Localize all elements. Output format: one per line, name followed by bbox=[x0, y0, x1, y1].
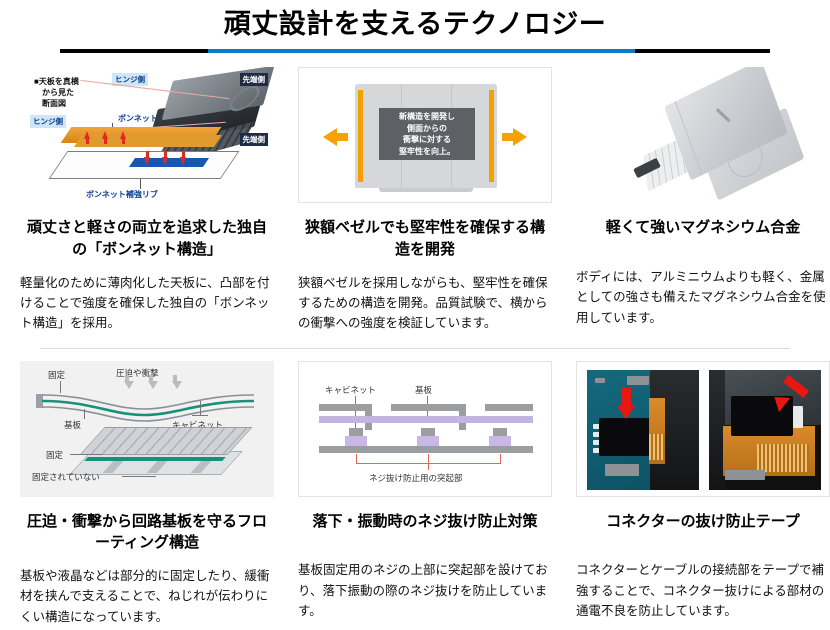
laptop-photo bbox=[576, 67, 830, 203]
connector-photo-left bbox=[587, 370, 699, 490]
label-bonnet-rib: ボンネット補強リブ bbox=[86, 189, 158, 200]
card-title: 狭額ベゼルでも堅牢性を確保する構造を開発 bbox=[298, 217, 552, 261]
impact-arrow-right bbox=[513, 128, 527, 146]
figure-bonnet-cross-section: ■天板を真横 から見た 断面図 ヒンジ側 先端側 ヒンジ側 bbox=[20, 67, 274, 203]
lid-foot bbox=[379, 188, 473, 192]
title-underline-accent bbox=[208, 49, 635, 53]
reinforcement-tape bbox=[599, 418, 651, 456]
row-divider bbox=[40, 348, 790, 349]
brand-logo-embossed bbox=[716, 109, 731, 123]
label-fixed-iso: 固定 bbox=[46, 449, 63, 461]
label-tip-side-mid: 先端側 bbox=[240, 133, 269, 146]
impact-arrow-right-stem bbox=[502, 133, 514, 141]
figure-magnesium-laptop bbox=[576, 67, 830, 203]
card-body: 基板固定用のネジの上部に突起部を設けており、落下振動の際のネジ抜けを防止していま… bbox=[298, 560, 552, 621]
figure-narrow-bezel: Panasonic 新構造を開発し 側面からの 衝撃に対する 堅牢性を向上。 bbox=[298, 67, 552, 203]
label-tip-side-top: 先端側 bbox=[240, 73, 269, 86]
overlay-message-box: 新構造を開発し 側面からの 衝撃に対する 堅牢性を向上。 bbox=[379, 108, 475, 160]
card-narrow-bezel: Panasonic 新構造を開発し 側面からの 衝撃に対する 堅牢性を向上。 狭… bbox=[298, 67, 552, 333]
pointer-arrow-left bbox=[617, 406, 635, 419]
label-cabinet: キャビネット bbox=[325, 384, 376, 396]
figure-connector-tape bbox=[576, 361, 830, 497]
pointer-arrow-stem-left bbox=[621, 388, 631, 408]
card-bonnet-structure: ■天板を真横 から見た 断面図 ヒンジ側 先端側 ヒンジ側 bbox=[20, 67, 274, 333]
title-underline bbox=[60, 49, 770, 53]
figure-screw-retention: キャビネット 基板 bbox=[298, 361, 552, 497]
figure-note: ■天板を真横 から見た 断面図 bbox=[34, 77, 79, 109]
cross-section-body bbox=[58, 127, 234, 183]
section-rib bbox=[129, 158, 209, 167]
side-reinforcement-left bbox=[358, 90, 363, 182]
card-body: コネクターとケーブルの接続部をテープで補強することで、コネクター抜けによる部材の… bbox=[576, 560, 830, 621]
card-body: 狭額ベゼルを採用しながらも、堅牢性を確保するための構造を開発。品質試験で、横から… bbox=[298, 273, 552, 334]
card-floating-structure: 固定 圧迫や衝撃 基板 キャビネッ bbox=[20, 361, 274, 627]
cards-row-bottom: 固定 圧迫や衝撃 基板 キャビネッ bbox=[20, 361, 810, 627]
isometric-board-view bbox=[78, 427, 248, 483]
page-title: 頑丈設計を支えるテクノロジー bbox=[0, 0, 830, 40]
cards-grid: ■天板を真横 から見た 断面図 ヒンジ側 先端側 ヒンジ側 bbox=[0, 67, 830, 627]
overlay-message: 新構造を開発し 側面からの 衝撃に対する 堅牢性を向上。 bbox=[399, 111, 455, 157]
impact-arrow-left-stem bbox=[336, 133, 348, 141]
card-title: 頑丈さと軽さの両立を追求した独自の「ボンネット構造」 bbox=[20, 217, 274, 261]
technology-page: 頑丈設計を支えるテクノロジー ■天板を真横 から見た 断面図 bbox=[0, 0, 830, 630]
card-screw-retention: キャビネット 基板 bbox=[298, 361, 552, 622]
card-body: ボディには、アルミニウムよりも軽く、金属としての強さも備えたマグネシウム合金を使… bbox=[576, 267, 830, 328]
connector-photo-right bbox=[709, 370, 821, 490]
cards-row-top: ■天板を真横 から見た 断面図 ヒンジ側 先端側 ヒンジ側 bbox=[20, 67, 810, 333]
card-title: 落下・振動時のネジ抜け防止対策 bbox=[298, 511, 552, 533]
card-body: 基板や液晶などは部分的に固定したり、緩衝材を挟んで支えることで、ねじれが伝わりに… bbox=[20, 566, 274, 627]
card-title: 軽くて強いマグネシウム合金 bbox=[576, 217, 830, 239]
card-connector-tape: コネクターの抜け防止テープ コネクターとケーブルの接続部をテープで補強することで… bbox=[576, 361, 830, 622]
label-screw-protrusion: ネジ抜け防止用の突起部 bbox=[369, 472, 463, 484]
impact-arrow-left bbox=[323, 128, 337, 146]
label-bonnet: ボンネット bbox=[118, 113, 158, 124]
card-title: コネクターの抜け防止テープ bbox=[576, 511, 830, 533]
bezel-illustration: Panasonic 新構造を開発し 側面からの 衝撃に対する 堅牢性を向上。 bbox=[299, 68, 551, 202]
label-board: 基板 bbox=[415, 384, 432, 396]
iso-cabinet-top bbox=[79, 427, 252, 455]
board-layer bbox=[319, 416, 533, 423]
section-bonnet-face bbox=[74, 135, 222, 147]
figure-floating-structure: 固定 圧迫や衝撃 基板 キャビネッ bbox=[20, 361, 274, 497]
card-magnesium-alloy: 軽くて強いマグネシウム合金 ボディには、アルミニウムよりも軽く、金属としての強さ… bbox=[576, 67, 830, 328]
label-not-fixed: 固定されていない bbox=[32, 471, 100, 483]
side-reinforcement-right bbox=[489, 90, 494, 182]
card-title: 圧迫・衝撃から回路基板を守るフローティング構造 bbox=[20, 511, 274, 555]
card-body: 軽量化のために薄肉化した天板に、凸部を付けることで強度を確保した独自の「ボンネッ… bbox=[20, 273, 274, 334]
